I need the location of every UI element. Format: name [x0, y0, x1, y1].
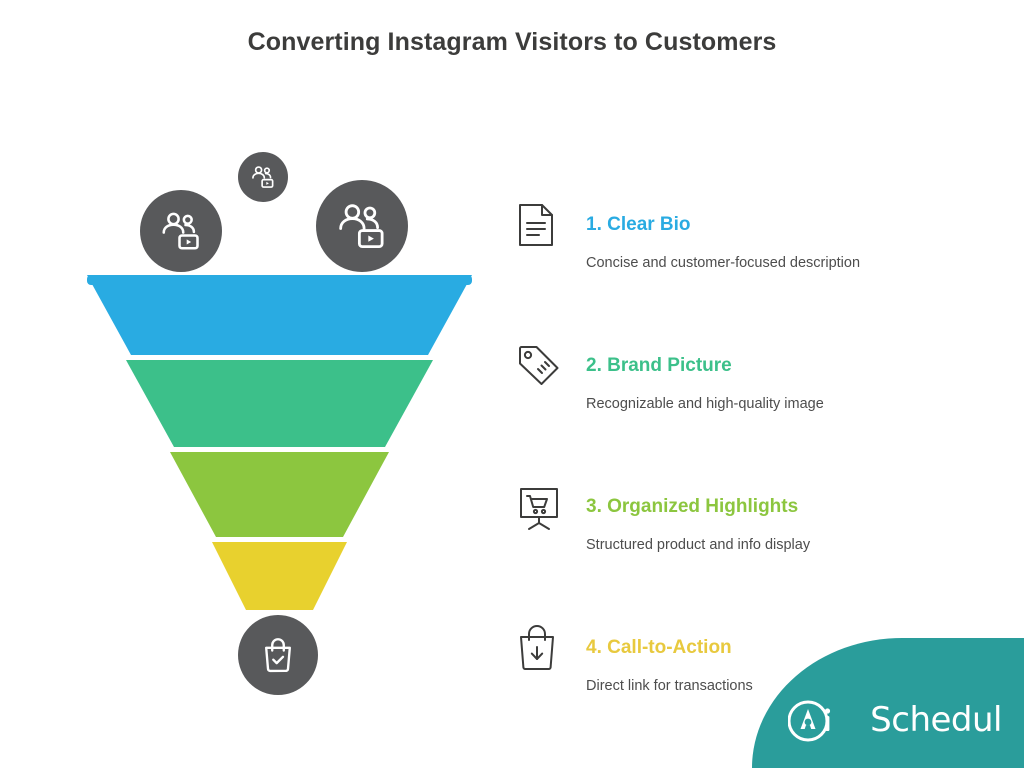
users-video-icon	[249, 163, 277, 191]
funnel-stage-1	[87, 275, 472, 355]
step-description: Recognizable and high-quality image	[586, 396, 824, 412]
users-video-icon	[157, 207, 205, 255]
funnel-shape	[60, 130, 510, 690]
funnel-badge-2	[140, 190, 222, 272]
step-heading: 3. Organized Highlights	[586, 496, 798, 518]
ai-logo-mark	[788, 698, 834, 744]
logo-text: Schedul	[870, 700, 1002, 740]
price-tag-icon	[516, 343, 562, 393]
funnel-stage-1-top	[87, 275, 472, 285]
funnel-badge-1	[238, 152, 288, 202]
shopping-bag-check-icon	[257, 634, 299, 676]
document-lines-icon	[516, 202, 562, 252]
funnel-badge-4	[238, 615, 318, 695]
list-item: 3. Organized Highlights Structured produ…	[508, 478, 978, 619]
funnel-stage-3	[170, 452, 389, 537]
users-video-icon	[334, 198, 390, 254]
cart-board-icon	[516, 484, 562, 534]
funnel-diagram	[60, 130, 510, 690]
step-description: Structured product and info display	[586, 537, 810, 553]
funnel-stage-4	[212, 542, 347, 610]
list-item: 2. Brand Picture Recognizable and high-q…	[508, 337, 978, 478]
step-heading: 4. Call-to-Action	[586, 637, 732, 659]
funnel-stage-2	[126, 360, 433, 447]
step-description: Direct link for transactions	[586, 678, 753, 694]
funnel-badge-3	[316, 180, 408, 272]
step-description: Concise and customer-focused description	[586, 255, 860, 271]
page-title: Converting Instagram Visitors to Custome…	[0, 28, 1024, 57]
shopping-bag-download-icon	[516, 625, 562, 675]
list-item: 1. Clear Bio Concise and customer-focuse…	[508, 196, 978, 337]
step-heading: 1. Clear Bio	[586, 214, 691, 236]
step-heading: 2. Brand Picture	[586, 355, 732, 377]
